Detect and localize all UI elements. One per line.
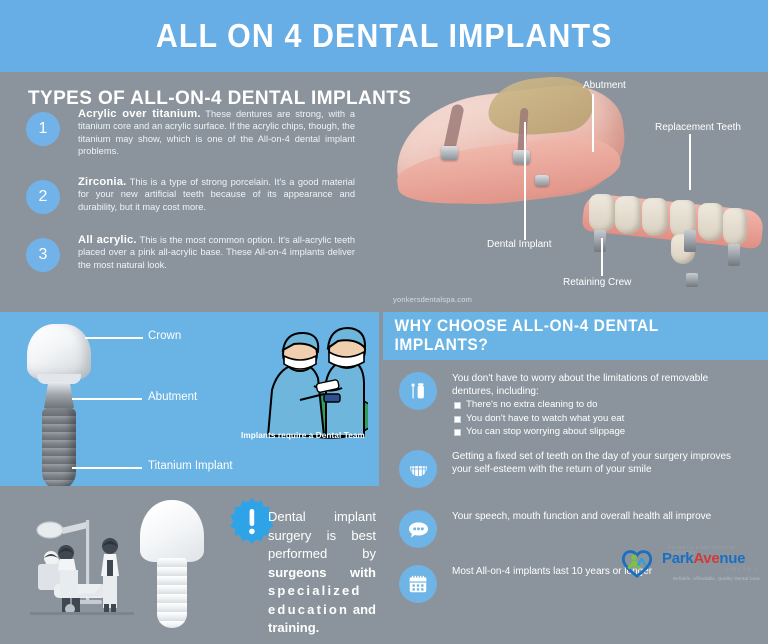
speech-bubble-glyph	[407, 518, 430, 541]
dental-clinic-illustration	[24, 514, 139, 619]
jaw-illustration: Abutment Replacement Teeth Dental Implan…	[383, 72, 768, 310]
retaining-screw-shape	[594, 230, 606, 252]
surgeon-note-panel: Dental implant surgery is best performed…	[0, 486, 379, 644]
type-item-1: 1 Acrylic over titanium. These dentures …	[26, 108, 355, 158]
leader-line-titanium-implant	[72, 467, 142, 469]
type-term: Acrylic over titanium.	[78, 108, 201, 120]
leader-line-retaining-crew	[601, 238, 603, 276]
abutment-screw-shape	[513, 150, 530, 164]
type-description: Acrylic over titanium. These dentures ar…	[78, 108, 355, 158]
abutment-screw-shape	[535, 175, 549, 186]
titanium-implant-shape	[42, 408, 76, 490]
label-dental-implant: Dental Implant	[487, 239, 551, 250]
label-crown: Crown	[148, 330, 181, 342]
abutment-screw-shape	[441, 146, 458, 160]
type-term: Zirconia.	[78, 176, 126, 188]
type-number-badge: 3	[26, 238, 60, 272]
label-replacement-teeth: Replacement Teeth	[655, 122, 741, 133]
replacement-tooth	[589, 194, 615, 232]
benefit-item: You don't have to worry about the limita…	[399, 372, 752, 439]
toothbrush-toothpaste-icon	[399, 372, 437, 410]
implant-anatomy-panel: Crown Abutment Titanium Implant	[0, 312, 379, 486]
benefit-main-text: Your speech, mouth function and overall …	[452, 511, 711, 522]
page-title: ALL ON 4 DENTAL IMPLANTS	[156, 17, 613, 55]
logo-word-nue: nue	[719, 550, 745, 567]
large-screw-shape	[157, 558, 187, 628]
speech-bubble-icon	[399, 510, 437, 548]
leader-line-abutment	[592, 94, 594, 152]
smile-glyph	[407, 458, 430, 481]
park-avenue-smiles-logo: COSMETIC & RESTORATIVE DENTISTRY ParkAve…	[620, 543, 760, 587]
leader-line-replacement-teeth	[689, 134, 691, 190]
logo-word-ave: Ave	[693, 550, 719, 567]
label-abutment: Abutment	[583, 80, 626, 91]
label-retaining-crew: Retaining Crew	[563, 277, 631, 288]
why-choose-title: WHY CHOOSE ALL-ON-4 DENTAL IMPLANTS?	[395, 317, 757, 355]
benefit-main-text: Getting a fixed set of teeth on the day …	[452, 451, 731, 475]
surgeon-note-line-3: performed by	[268, 546, 376, 561]
crown-shape	[27, 324, 91, 380]
benefit-sub-item: You don't have to watch what you eat	[452, 412, 752, 426]
surgeon-note-line-6: education	[268, 602, 349, 617]
benefit-text: Your speech, mouth function and overall …	[452, 510, 752, 523]
why-choose-body: You don't have to worry about the limita…	[383, 360, 768, 644]
dental-team-svg	[238, 324, 368, 442]
surgeon-note-line-5: specialized	[268, 583, 362, 598]
retaining-screw-shape	[728, 244, 740, 266]
type-description: Zirconia. This is a type of strong porce…	[78, 176, 355, 213]
dental-team-caption: Implants require a Dental Team	[232, 431, 374, 440]
why-choose-header: WHY CHOOSE ALL-ON-4 DENTAL IMPLANTS?	[383, 312, 768, 360]
type-item-3: 3 All acrylic. This is the most common o…	[26, 234, 355, 272]
types-section-title: TYPES OF ALL-ON-4 DENTAL IMPLANTS	[28, 88, 411, 110]
leader-line-abutment	[72, 398, 142, 400]
label-abutment: Abutment	[148, 391, 197, 403]
logo-word-park: Park	[662, 550, 693, 567]
leader-line-dental-implant	[524, 122, 526, 240]
page-header: ALL ON 4 DENTAL IMPLANTS	[0, 0, 768, 72]
type-term: All acrylic.	[78, 234, 137, 246]
clinic-scene-svg	[24, 514, 139, 619]
replacement-tooth	[723, 208, 747, 246]
logo-wordmark: ParkAvenue	[662, 550, 745, 568]
source-credit: yonkersdentalspa.com	[393, 295, 472, 304]
calendar-glyph	[407, 573, 429, 595]
calendar-icon	[399, 565, 437, 603]
abutment-shape	[44, 382, 74, 408]
replacement-tooth	[615, 196, 641, 234]
benefit-text: You don't have to worry about the limita…	[452, 372, 752, 439]
heart-person-icon	[620, 545, 654, 579]
toothbrush-toothpaste-glyph	[407, 380, 429, 402]
dental-team-illustration	[238, 324, 368, 442]
type-item-2: 2 Zirconia. This is a type of strong por…	[26, 176, 355, 214]
benefit-text: Getting a fixed set of teeth on the day …	[452, 450, 752, 476]
surgeon-note-line-1: Dental implant	[268, 509, 376, 524]
retaining-screw-shape	[684, 230, 696, 252]
type-number-badge: 1	[26, 112, 60, 146]
replacement-tooth	[642, 198, 668, 236]
benefit-sub-item: There's no extra cleaning to do	[452, 398, 752, 412]
label-titanium-implant: Titanium Implant	[148, 460, 233, 472]
benefit-sub-item: You can stop worrying about slippage	[452, 425, 752, 439]
smile-icon	[399, 450, 437, 488]
benefit-item: Getting a fixed set of teeth on the day …	[399, 450, 752, 488]
surgeon-note-line-4: surgeons with	[268, 565, 376, 580]
large-implant-illustration	[140, 500, 204, 628]
benefit-main-text: You don't have to worry about the limita…	[452, 373, 708, 397]
surgeon-note-text: Dental implant surgery is best performed…	[268, 508, 376, 638]
logo-word-smiles: smiles	[668, 567, 760, 573]
large-crown-shape	[140, 500, 204, 562]
surgeon-note-line-2: surgery is best	[268, 528, 376, 543]
type-description: All acrylic. This is the most common opt…	[78, 234, 355, 271]
infographic-page: ALL ON 4 DENTAL IMPLANTS TYPES OF ALL-ON…	[0, 0, 768, 644]
type-number-badge: 2	[26, 180, 60, 214]
retaining-screw-shape	[686, 273, 698, 287]
leader-line-crown	[85, 337, 143, 339]
replacement-tooth	[698, 203, 724, 241]
logo-tagline: Reliable. Affordable. Quality Dental Car…	[644, 576, 760, 581]
